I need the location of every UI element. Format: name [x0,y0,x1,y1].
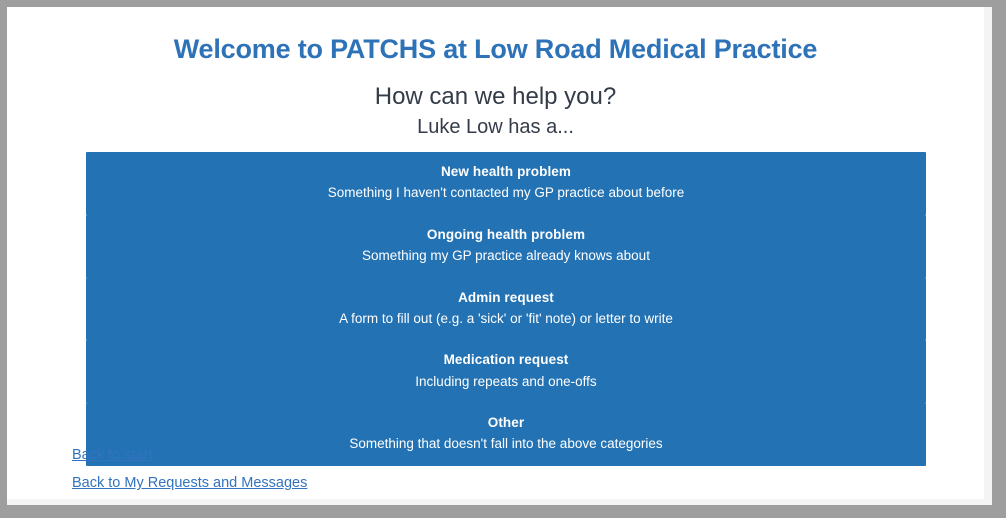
list-item: New health problem Something I haven't c… [86,152,926,215]
page-title: Welcome to PATCHS at Low Road Medical Pr… [7,7,984,65]
request-category-list: New health problem Something I haven't c… [86,152,926,466]
option-ongoing-health-problem[interactable]: Ongoing health problem Something my GP p… [86,215,926,278]
option-title: Medication request [98,351,914,369]
option-description: A form to fill out (e.g. a 'sick' or 'fi… [98,307,914,329]
option-description: Including repeats and one-offs [98,370,914,392]
option-description: Something I haven't contacted my GP prac… [98,181,914,203]
option-medication-request[interactable]: Medication request Including repeats and… [86,340,926,403]
user-prompt-line: Luke Low has a... [7,110,984,139]
page-backdrop: Welcome to PATCHS at Low Road Medical Pr… [7,7,992,505]
link-back-to-my-requests-and-messages[interactable]: Back to My Requests and Messages [72,475,307,492]
patchs-content-card: Welcome to PATCHS at Low Road Medical Pr… [7,7,992,505]
footer-navigation: Back to start Back to My Requests and Me… [72,447,307,493]
option-description: Something my GP practice already knows a… [98,244,914,266]
option-title: New health problem [98,163,914,181]
link-back-to-start[interactable]: Back to start [72,447,307,464]
option-title: Ongoing health problem [98,226,914,244]
option-admin-request[interactable]: Admin request A form to fill out (e.g. a… [86,278,926,341]
option-new-health-problem[interactable]: New health problem Something I haven't c… [86,152,926,215]
option-title: Other [98,414,914,432]
list-item: Admin request A form to fill out (e.g. a… [86,278,926,341]
list-item: Medication request Including repeats and… [86,340,926,403]
option-title: Admin request [98,289,914,307]
help-heading: How can we help you? [7,65,984,111]
browser-window-frame: Welcome to PATCHS at Low Road Medical Pr… [0,0,1006,518]
list-item: Ongoing health problem Something my GP p… [86,215,926,278]
